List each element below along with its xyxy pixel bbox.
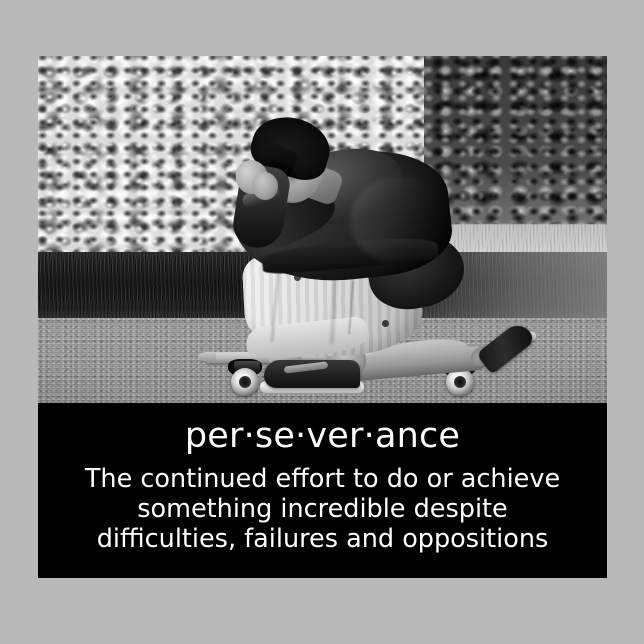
definition-line-1: The continued effort to do or achieve <box>38 464 607 494</box>
definition-line-3: difficulties, failures and oppositions <box>38 524 607 554</box>
poster: per·se·ver·ance The continued effort to … <box>38 56 607 578</box>
headword: per·se·ver·ance <box>38 403 607 454</box>
caption-block: per·se·ver·ance The continued effort to … <box>38 403 607 578</box>
definition-line-2: something incredible despite <box>38 494 607 524</box>
poster-photograph <box>38 56 607 403</box>
definition-text: The continued effort to do or achieve so… <box>38 454 607 554</box>
photo-vignette <box>38 56 607 403</box>
